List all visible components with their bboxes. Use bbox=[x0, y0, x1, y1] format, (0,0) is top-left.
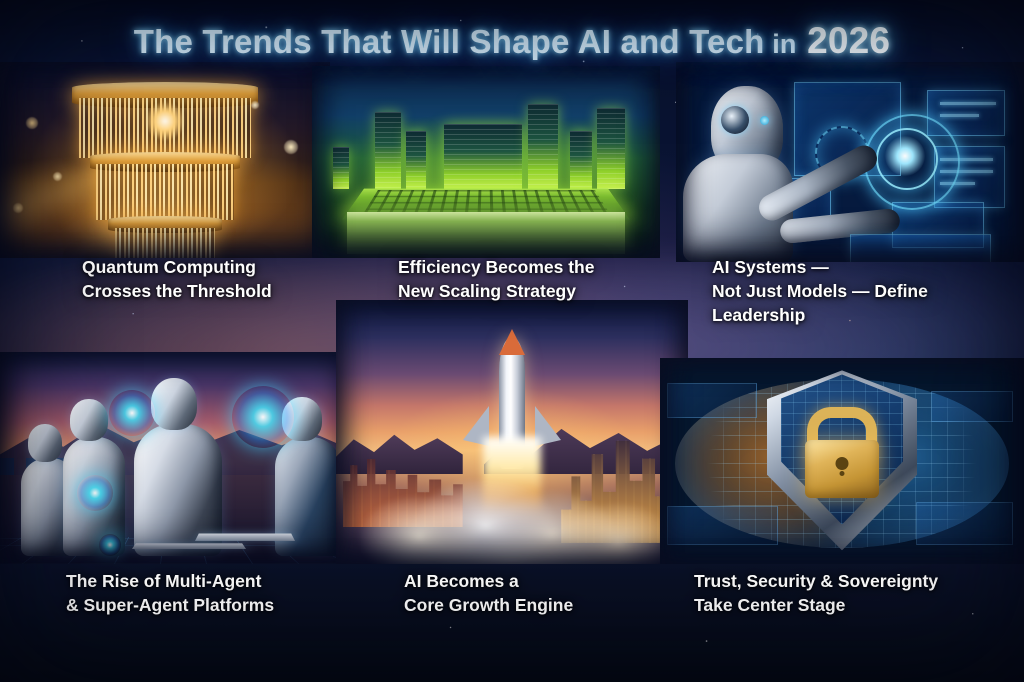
rocket-launch-image bbox=[336, 300, 688, 564]
infographic-poster: The Trends That Will Shape AI and Tech i… bbox=[0, 0, 1024, 682]
server-tower bbox=[597, 108, 625, 189]
server-tower bbox=[570, 131, 592, 189]
trend-caption-6: Trust, Security & Sovereignty Take Cente… bbox=[694, 570, 938, 618]
holo-core-glow bbox=[885, 136, 925, 176]
bokeh-dot bbox=[53, 172, 62, 181]
trend-tile-trust-security[interactable] bbox=[660, 358, 1024, 564]
robot-agent-head bbox=[151, 378, 197, 430]
server-block bbox=[444, 124, 522, 189]
multi-agent-robots-image bbox=[0, 352, 352, 564]
holo-node bbox=[99, 534, 121, 556]
server-tower bbox=[528, 104, 558, 188]
holo-orb bbox=[232, 386, 294, 448]
page-title-year bbox=[797, 20, 807, 61]
page-title-connector-word: in bbox=[772, 29, 796, 59]
hud-panel bbox=[667, 383, 756, 418]
launch-smoke-cloud bbox=[347, 480, 678, 564]
robot-dashboard-image bbox=[676, 62, 1024, 262]
trend-tile-multi-agent[interactable] bbox=[0, 352, 352, 564]
trend-tile-core-growth[interactable] bbox=[336, 300, 688, 564]
server-tower bbox=[406, 131, 426, 189]
base-podium bbox=[347, 212, 625, 254]
robot-eye-led bbox=[760, 116, 769, 125]
laptop-device bbox=[132, 544, 246, 550]
laptop-device bbox=[195, 533, 295, 540]
server-tower bbox=[333, 147, 349, 189]
core-glow bbox=[145, 101, 185, 141]
keyhole-icon bbox=[836, 457, 849, 470]
quantum-computer-image bbox=[0, 62, 330, 258]
page-title-lead: The Trends That Will Shape AI and Tech bbox=[134, 23, 765, 60]
trend-tile-quantum-computing[interactable] bbox=[0, 62, 330, 258]
holo-orb bbox=[109, 390, 155, 436]
trend-caption-4: The Rise of Multi-Agent & Super-Agent Pl… bbox=[66, 570, 274, 618]
trend-caption-2: Efficiency Becomes the New Scaling Strat… bbox=[398, 256, 594, 304]
trend-caption-1: Quantum Computing Crosses the Threshold bbox=[82, 256, 272, 304]
trend-tile-efficiency[interactable] bbox=[312, 66, 660, 258]
trend-caption-5: AI Becomes a Core Growth Engine bbox=[404, 570, 573, 618]
trend-caption-3: AI Systems — Not Just Models — Define Le… bbox=[712, 256, 928, 327]
bokeh-dot bbox=[251, 101, 259, 109]
security-shield-image bbox=[660, 358, 1024, 564]
trend-tile-ai-systems[interactable] bbox=[676, 62, 1024, 262]
page-title-year-value: 2026 bbox=[807, 20, 890, 61]
hud-panel bbox=[931, 391, 1013, 422]
rocket-nose-cone bbox=[499, 329, 525, 355]
server-tower bbox=[375, 112, 401, 189]
green-data-center-image bbox=[312, 66, 660, 258]
robot-agent-head bbox=[28, 424, 62, 462]
hud-panel bbox=[667, 506, 778, 545]
hud-panel bbox=[916, 502, 1013, 545]
page-title: The Trends That Will Shape AI and Tech i… bbox=[0, 20, 1024, 62]
robot-agent-head bbox=[70, 399, 108, 441]
